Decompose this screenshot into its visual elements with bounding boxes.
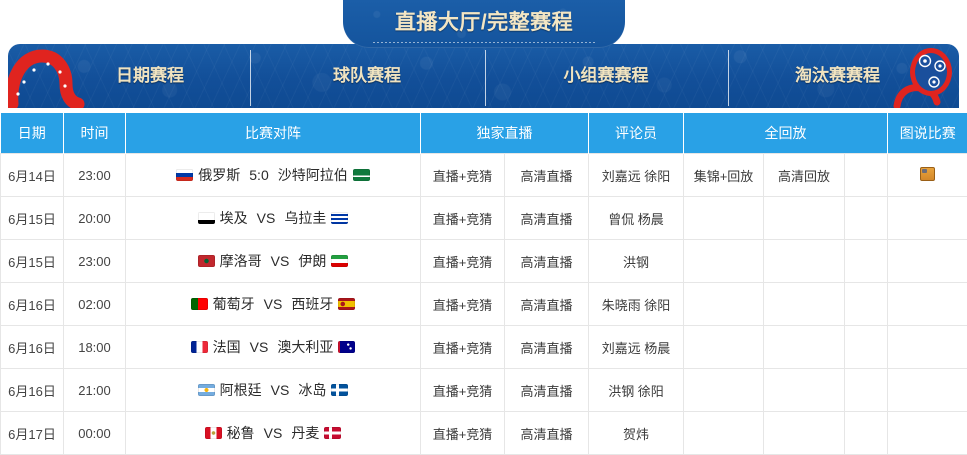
match-fixture: 阿根廷VS冰岛 bbox=[127, 380, 419, 400]
cell-live-betting-link[interactable]: 直播+竞猜 bbox=[421, 412, 505, 455]
col-header-date: 日期 bbox=[1, 113, 64, 154]
flag-icon-pe bbox=[205, 427, 222, 439]
title-divider bbox=[373, 42, 595, 43]
cell-date: 6月16日 bbox=[1, 283, 64, 326]
cell-hd-replay-link[interactable]: 高清回放 bbox=[764, 154, 845, 197]
table-row[interactable]: 6月15日20:00埃及VS乌拉圭直播+竞猜高清直播曾侃 杨晨 bbox=[1, 197, 967, 240]
away-team-name: 乌拉圭 bbox=[281, 208, 329, 228]
nav-separator bbox=[485, 50, 486, 106]
tab-group-stage-schedule[interactable]: 小组赛赛程 bbox=[487, 62, 725, 90]
home-team-name: 法国 bbox=[210, 337, 244, 357]
cell-match[interactable]: 葡萄牙VS西班牙 bbox=[126, 283, 421, 326]
cell-replay-extra bbox=[845, 197, 888, 240]
cell-live-betting-link[interactable]: 直播+竞猜 bbox=[421, 240, 505, 283]
match-fixture: 俄罗斯5:0沙特阿拉伯 bbox=[127, 165, 419, 185]
cell-match[interactable]: 摩洛哥VS伊朗 bbox=[126, 240, 421, 283]
cell-hd-replay-link bbox=[764, 369, 845, 412]
cell-replay-extra bbox=[845, 154, 888, 197]
cell-time: 20:00 bbox=[64, 197, 126, 240]
cell-date: 6月15日 bbox=[1, 197, 64, 240]
cell-replay-extra bbox=[845, 240, 888, 283]
away-team-name: 澳大利亚 bbox=[274, 337, 336, 357]
cell-commentator: 洪钢 徐阳 bbox=[589, 369, 684, 412]
cell-time: 23:00 bbox=[64, 240, 126, 283]
tab-label: 小组赛赛程 bbox=[564, 66, 649, 85]
cell-time: 02:00 bbox=[64, 283, 126, 326]
page-title: 直播大厅/完整赛程 bbox=[343, 7, 625, 39]
cell-match[interactable]: 埃及VS乌拉圭 bbox=[126, 197, 421, 240]
versus-label: VS bbox=[260, 296, 287, 312]
cell-match[interactable]: 阿根廷VS冰岛 bbox=[126, 369, 421, 412]
flag-icon-dk bbox=[324, 427, 341, 439]
home-team-name: 葡萄牙 bbox=[210, 294, 258, 314]
cell-highlights-replay-link bbox=[684, 197, 764, 240]
cell-photo-story bbox=[888, 369, 967, 412]
col-header-full-replay: 全回放 bbox=[684, 113, 888, 154]
cell-date: 6月15日 bbox=[1, 240, 64, 283]
col-header-commentator: 评论员 bbox=[589, 113, 684, 154]
table-row[interactable]: 6月15日23:00摩洛哥VS伊朗直播+竞猜高清直播洪钢 bbox=[1, 240, 967, 283]
cell-live-betting-link[interactable]: 直播+竞猜 bbox=[421, 154, 505, 197]
nav-separator bbox=[728, 50, 729, 106]
match-fixture: 葡萄牙VS西班牙 bbox=[127, 294, 419, 314]
cell-highlights-replay-link bbox=[684, 240, 764, 283]
home-team-name: 摩洛哥 bbox=[217, 251, 265, 271]
cell-replay-extra bbox=[845, 283, 888, 326]
flag-icon-ma bbox=[198, 255, 215, 267]
tab-knockout-schedule[interactable]: 淘汰赛赛程 bbox=[730, 62, 945, 90]
versus-label: VS bbox=[267, 382, 294, 398]
cell-photo-story bbox=[888, 326, 967, 369]
cell-photo-story bbox=[888, 197, 967, 240]
away-team-name: 冰岛 bbox=[295, 380, 329, 400]
match-score: 5:0 bbox=[245, 167, 272, 183]
cell-time: 18:00 bbox=[64, 326, 126, 369]
tab-date-schedule[interactable]: 日期赛程 bbox=[85, 62, 215, 90]
cell-hd-live-link[interactable]: 高清直播 bbox=[505, 283, 589, 326]
table-row[interactable]: 6月16日21:00阿根廷VS冰岛直播+竞猜高清直播洪钢 徐阳 bbox=[1, 369, 967, 412]
cell-highlights-replay-link bbox=[684, 412, 764, 455]
table-header-row: 日期 时间 比赛对阵 独家直播 评论员 全回放 图说比赛 bbox=[1, 113, 967, 154]
cell-commentator: 刘嘉远 杨晨 bbox=[589, 326, 684, 369]
cell-commentator: 曾侃 杨晨 bbox=[589, 197, 684, 240]
cell-photo-story bbox=[888, 240, 967, 283]
tab-label: 淘汰赛赛程 bbox=[795, 66, 880, 85]
flag-icon-ru bbox=[176, 169, 193, 181]
cell-replay-extra bbox=[845, 326, 888, 369]
flag-icon-sa bbox=[353, 169, 370, 181]
flag-icon-ar bbox=[198, 384, 215, 396]
cell-commentator: 洪钢 bbox=[589, 240, 684, 283]
flag-icon-eg bbox=[198, 212, 215, 224]
cell-hd-live-link[interactable]: 高清直播 bbox=[505, 369, 589, 412]
flag-icon-au bbox=[338, 341, 355, 353]
cell-hd-live-link[interactable]: 高清直播 bbox=[505, 154, 589, 197]
versus-label: VS bbox=[253, 210, 280, 226]
cell-match[interactable]: 秘鲁VS丹麦 bbox=[126, 412, 421, 455]
cell-hd-replay-link bbox=[764, 412, 845, 455]
col-header-exclusive-live: 独家直播 bbox=[421, 113, 589, 154]
cell-photo-story[interactable] bbox=[888, 154, 967, 197]
cell-hd-live-link[interactable]: 高清直播 bbox=[505, 326, 589, 369]
cell-time: 21:00 bbox=[64, 369, 126, 412]
flag-icon-pt bbox=[191, 298, 208, 310]
match-fixture: 埃及VS乌拉圭 bbox=[127, 208, 419, 228]
flag-icon-es bbox=[338, 298, 355, 310]
cell-hd-live-link[interactable]: 高清直播 bbox=[505, 240, 589, 283]
cell-date: 6月16日 bbox=[1, 369, 64, 412]
tab-label: 球队赛程 bbox=[333, 66, 401, 85]
cell-photo-story bbox=[888, 283, 967, 326]
cell-photo-story bbox=[888, 412, 967, 455]
cell-date: 6月16日 bbox=[1, 326, 64, 369]
cell-highlights-replay-link[interactable]: 集锦+回放 bbox=[684, 154, 764, 197]
match-fixture: 法国VS澳大利亚 bbox=[127, 337, 419, 357]
cell-live-betting-link[interactable]: 直播+竞猜 bbox=[421, 283, 505, 326]
cell-hd-replay-link bbox=[764, 197, 845, 240]
home-team-name: 埃及 bbox=[217, 208, 251, 228]
versus-label: VS bbox=[246, 339, 273, 355]
cell-highlights-replay-link bbox=[684, 326, 764, 369]
table-row[interactable]: 6月14日23:00俄罗斯5:0沙特阿拉伯直播+竞猜高清直播刘嘉远 徐阳集锦+回… bbox=[1, 154, 967, 197]
cell-hd-replay-link bbox=[764, 283, 845, 326]
tab-team-schedule[interactable]: 球队赛程 bbox=[252, 62, 482, 90]
cell-live-betting-link[interactable]: 直播+竞猜 bbox=[421, 197, 505, 240]
flag-icon-is bbox=[331, 384, 348, 396]
flag-icon-uy bbox=[331, 212, 348, 224]
home-team-name: 俄罗斯 bbox=[195, 165, 243, 185]
cell-time: 00:00 bbox=[64, 412, 126, 455]
cell-date: 6月17日 bbox=[1, 412, 64, 455]
flag-icon-ir bbox=[331, 255, 348, 267]
match-fixture: 摩洛哥VS伊朗 bbox=[127, 251, 419, 271]
cell-replay-extra bbox=[845, 369, 888, 412]
col-header-match: 比赛对阵 bbox=[126, 113, 421, 154]
away-team-name: 沙特阿拉伯 bbox=[275, 165, 351, 185]
cell-live-betting-link[interactable]: 直播+竞猜 bbox=[421, 326, 505, 369]
table-row[interactable]: 6月16日18:00法国VS澳大利亚直播+竞猜高清直播刘嘉远 杨晨 bbox=[1, 326, 967, 369]
match-fixture: 秘鲁VS丹麦 bbox=[127, 423, 419, 443]
cell-match[interactable]: 俄罗斯5:0沙特阿拉伯 bbox=[126, 154, 421, 197]
cell-hd-live-link[interactable]: 高清直播 bbox=[505, 197, 589, 240]
cell-hd-replay-link bbox=[764, 326, 845, 369]
cell-time: 23:00 bbox=[64, 154, 126, 197]
home-team-name: 秘鲁 bbox=[224, 423, 258, 443]
cell-hd-live-link[interactable]: 高清直播 bbox=[505, 412, 589, 455]
cell-replay-extra bbox=[845, 412, 888, 455]
home-team-name: 阿根廷 bbox=[217, 380, 265, 400]
cell-date: 6月14日 bbox=[1, 154, 64, 197]
away-team-name: 伊朗 bbox=[295, 251, 329, 271]
table-row[interactable]: 6月17日00:00秘鲁VS丹麦直播+竞猜高清直播贺炜 bbox=[1, 412, 967, 455]
flag-icon-fr bbox=[191, 341, 208, 353]
cell-live-betting-link[interactable]: 直播+竞猜 bbox=[421, 369, 505, 412]
schedule-table-body: 6月14日23:00俄罗斯5:0沙特阿拉伯直播+竞猜高清直播刘嘉远 徐阳集锦+回… bbox=[1, 154, 967, 455]
col-header-time: 时间 bbox=[64, 113, 126, 154]
cell-match[interactable]: 法国VS澳大利亚 bbox=[126, 326, 421, 369]
col-header-photo-story: 图说比赛 bbox=[888, 113, 967, 154]
cell-commentator: 刘嘉远 徐阳 bbox=[589, 154, 684, 197]
table-row[interactable]: 6月16日02:00葡萄牙VS西班牙直播+竞猜高清直播朱晓雨 徐阳 bbox=[1, 283, 967, 326]
picture-icon[interactable] bbox=[920, 167, 935, 181]
nav-separator bbox=[250, 50, 251, 106]
versus-label: VS bbox=[260, 425, 287, 441]
away-team-name: 丹麦 bbox=[288, 423, 322, 443]
schedule-table: 日期 时间 比赛对阵 独家直播 评论员 全回放 图说比赛 6月14日23:00俄… bbox=[0, 113, 967, 455]
tab-label: 日期赛程 bbox=[116, 66, 184, 85]
page-banner: 直播大厅/完整赛程 日期赛程 bbox=[0, 0, 967, 113]
cell-hd-replay-link bbox=[764, 240, 845, 283]
cell-highlights-replay-link bbox=[684, 369, 764, 412]
cell-highlights-replay-link bbox=[684, 283, 764, 326]
cell-commentator: 朱晓雨 徐阳 bbox=[589, 283, 684, 326]
away-team-name: 西班牙 bbox=[288, 294, 336, 314]
cell-commentator: 贺炜 bbox=[589, 412, 684, 455]
versus-label: VS bbox=[267, 253, 294, 269]
